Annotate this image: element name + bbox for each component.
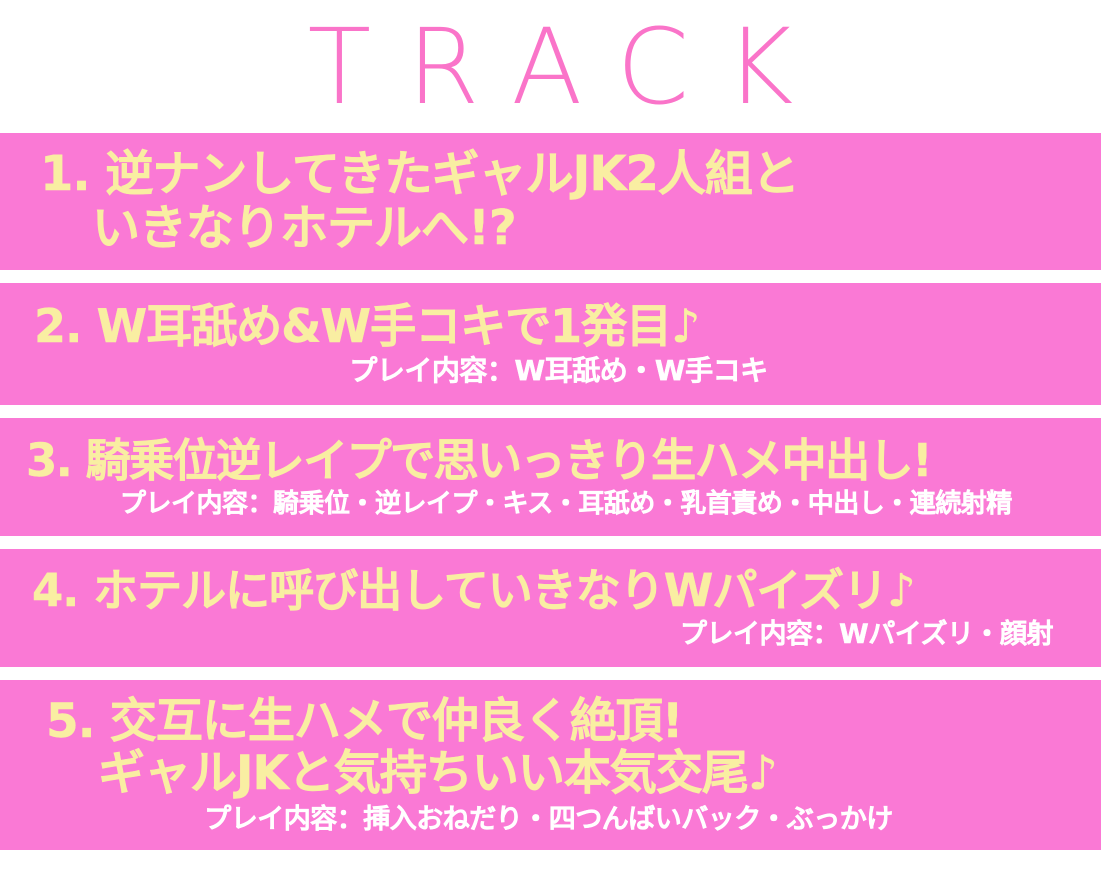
track-title-line-1: 2. W耳舐め&W手コキで1発目♪ (34, 301, 1101, 353)
track-item-4[interactable]: 4. ホテルに呼び出していきなりWパイズリ♪ プレイ内容：Wパイズリ・顔射 (0, 549, 1101, 667)
track-subtitle-2: プレイ内容：W耳舐め・W手コキ (34, 356, 1101, 387)
track-band-list: 1. 逆ナンしてきたギャルJK2人組と いきなりホテルへ!? 2. W耳舐め&W… (0, 133, 1101, 863)
page-header: TRACK (0, 0, 1101, 133)
track-list-page: TRACK 1. 逆ナンしてきたギャルJK2人組と いきなりホテルへ!? 2. … (0, 0, 1101, 881)
track-title-line-2: いきなりホテルへ!? (40, 202, 1101, 256)
track-title-line-1: 5. 交互に生ハメで仲良く絶頂! (46, 696, 1081, 749)
track-title-line-1: 1. 逆ナンしてきたギャルJK2人組と (40, 148, 1101, 202)
track-title-line-1: 4. ホテルに呼び出していきなりWパイズリ♪ (32, 566, 1053, 616)
track-title-line-1: 3. 騎乗位逆レイプで思いっきり生ハメ中出し! (26, 436, 1087, 486)
track-title-line-2: ギャルJKと気持ちいい本気交尾♪ (46, 748, 1081, 801)
track-title-3: 3. 騎乗位逆レイプで思いっきり生ハメ中出し! (26, 436, 1087, 486)
track-subtitle-4: プレイ内容：Wパイズリ・顔射 (32, 620, 1053, 650)
track-subtitle-3: プレイ内容：騎乗位・逆レイプ・キス・耳舐め・乳首責め・中出し・連続射精 (26, 490, 1087, 519)
track-item-2[interactable]: 2. W耳舐め&W手コキで1発目♪ プレイ内容：W耳舐め・W手コキ (0, 283, 1101, 405)
track-subtitle-5: プレイ内容：挿入おねだり・四つんばいバック・ぶっかけ (46, 805, 1081, 835)
track-title-2: 2. W耳舐め&W手コキで1発目♪ (34, 301, 1101, 353)
page-title: TRACK (272, 15, 830, 119)
track-item-1[interactable]: 1. 逆ナンしてきたギャルJK2人組と いきなりホテルへ!? (0, 133, 1101, 270)
track-item-3[interactable]: 3. 騎乗位逆レイプで思いっきり生ハメ中出し! プレイ内容：騎乗位・逆レイプ・キ… (0, 418, 1101, 536)
track-title-1: 1. 逆ナンしてきたギャルJK2人組と いきなりホテルへ!? (40, 148, 1101, 256)
track-title-5: 5. 交互に生ハメで仲良く絶頂! ギャルJKと気持ちいい本気交尾♪ (46, 696, 1081, 801)
track-item-5[interactable]: 5. 交互に生ハメで仲良く絶頂! ギャルJKと気持ちいい本気交尾♪ プレイ内容：… (0, 680, 1101, 850)
track-title-4: 4. ホテルに呼び出していきなりWパイズリ♪ (32, 566, 1053, 616)
